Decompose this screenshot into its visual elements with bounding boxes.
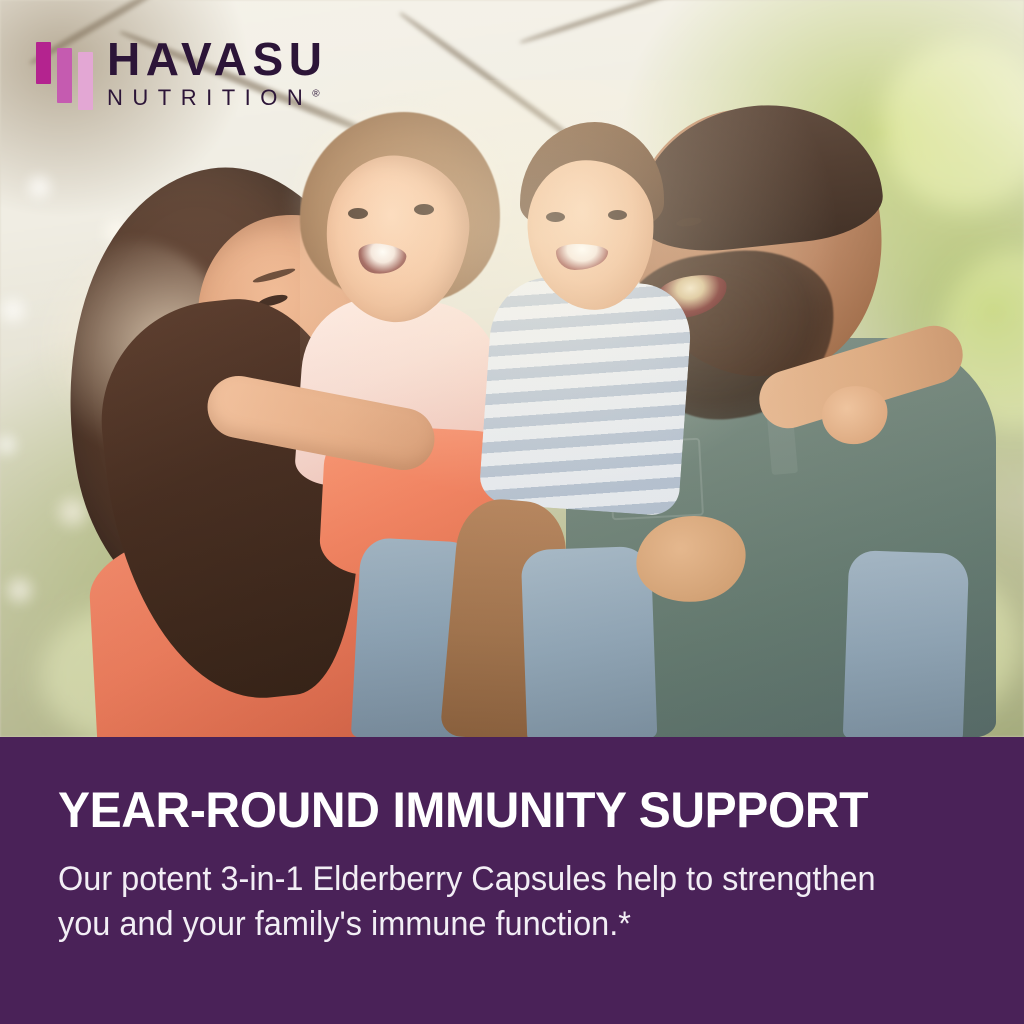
father-jeans — [843, 550, 969, 737]
brand-logo[interactable]: HAVASU NUTRITION® — [36, 36, 327, 110]
boy-jeans — [521, 546, 658, 737]
logo-bar-1 — [36, 42, 51, 84]
girl-eye-left — [348, 208, 368, 219]
boy-eye-right — [608, 210, 627, 220]
boy-eye-left — [546, 212, 565, 222]
havasu-bars-icon — [36, 36, 93, 110]
girl-eye-right — [414, 204, 434, 215]
hero-photo — [0, 0, 1024, 737]
message-banner: YEAR-ROUND IMMUNITY SUPPORT Our potent 3… — [0, 737, 1024, 1024]
brand-wordmark: HAVASU NUTRITION® — [107, 36, 327, 109]
brand-name-primary: HAVASU — [107, 36, 327, 82]
boy-striped-shirt — [478, 273, 694, 516]
body-copy-text: Our potent 3-in-1 Elderberry Capsules he… — [58, 857, 925, 947]
product-ad-card: HAVASU NUTRITION® YEAR-ROUND IMMUNITY SU… — [0, 0, 1024, 1024]
logo-bar-2 — [57, 48, 72, 103]
brand-name-secondary: NUTRITION — [107, 85, 312, 110]
brand-name-secondary-wrap: NUTRITION® — [107, 87, 327, 109]
registered-trademark-icon: ® — [312, 89, 319, 100]
logo-bar-3 — [78, 52, 93, 110]
headline-text: YEAR-ROUND IMMUNITY SUPPORT — [58, 785, 930, 835]
